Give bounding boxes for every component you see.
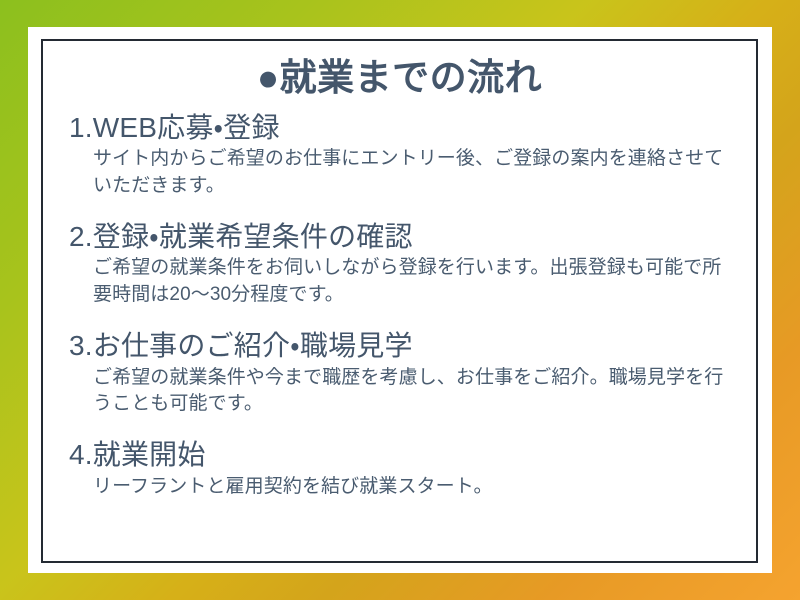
page-title: ●就業までの流れ — [61, 59, 738, 98]
step-3-description: ご希望の就業条件や今まで職歴を考慮し、お仕事をご紹介。職場見学を行うことも可能で… — [93, 365, 736, 419]
step-item-1: 1.WEB応募・登録 サイト内からご希望のお仕事にエントリー後、ご登録の案内を連… — [69, 110, 736, 200]
step-1-description: サイト内からご希望のお仕事にエントリー後、ご登録の案内を連絡させていただきます。 — [93, 146, 736, 200]
step-item-3: 3.お仕事のご紹介・職場見学 ご希望の就業条件や今まで職歴を考慮し、お仕事をご紹… — [69, 328, 736, 418]
steps-list: 1.WEB応募・登録 サイト内からご希望のお仕事にエントリー後、ご登録の案内を連… — [61, 108, 738, 551]
step-item-4: 4.就業開始 リーフラントと雇用契約を結び就業スタート。 — [69, 437, 736, 500]
poster-inner-sketch-frame: ●就業までの流れ 1.WEB応募・登録 サイト内からご希望のお仕事にエントリー後… — [41, 39, 758, 563]
step-1-heading: 1.WEB応募・登録 — [69, 110, 736, 145]
step-4-heading: 4.就業開始 — [69, 437, 736, 472]
step-2-heading: 2.登録・就業希望条件の確認 — [69, 219, 736, 254]
poster-white-card: ●就業までの流れ 1.WEB応募・登録 サイト内からご希望のお仕事にエントリー後… — [28, 27, 772, 573]
poster-outer-gradient-frame: ●就業までの流れ 1.WEB応募・登録 サイト内からご希望のお仕事にエントリー後… — [0, 0, 800, 600]
step-item-2: 2.登録・就業希望条件の確認 ご希望の就業条件をお伺いしながら登録を行います。出… — [69, 219, 736, 309]
step-2-description: ご希望の就業条件をお伺いしながら登録を行います。出張登録も可能で所要時間は20～… — [93, 255, 736, 309]
step-3-heading: 3.お仕事のご紹介・職場見学 — [69, 328, 736, 363]
step-4-description: リーフラントと雇用契約を結び就業スタート。 — [93, 474, 736, 501]
